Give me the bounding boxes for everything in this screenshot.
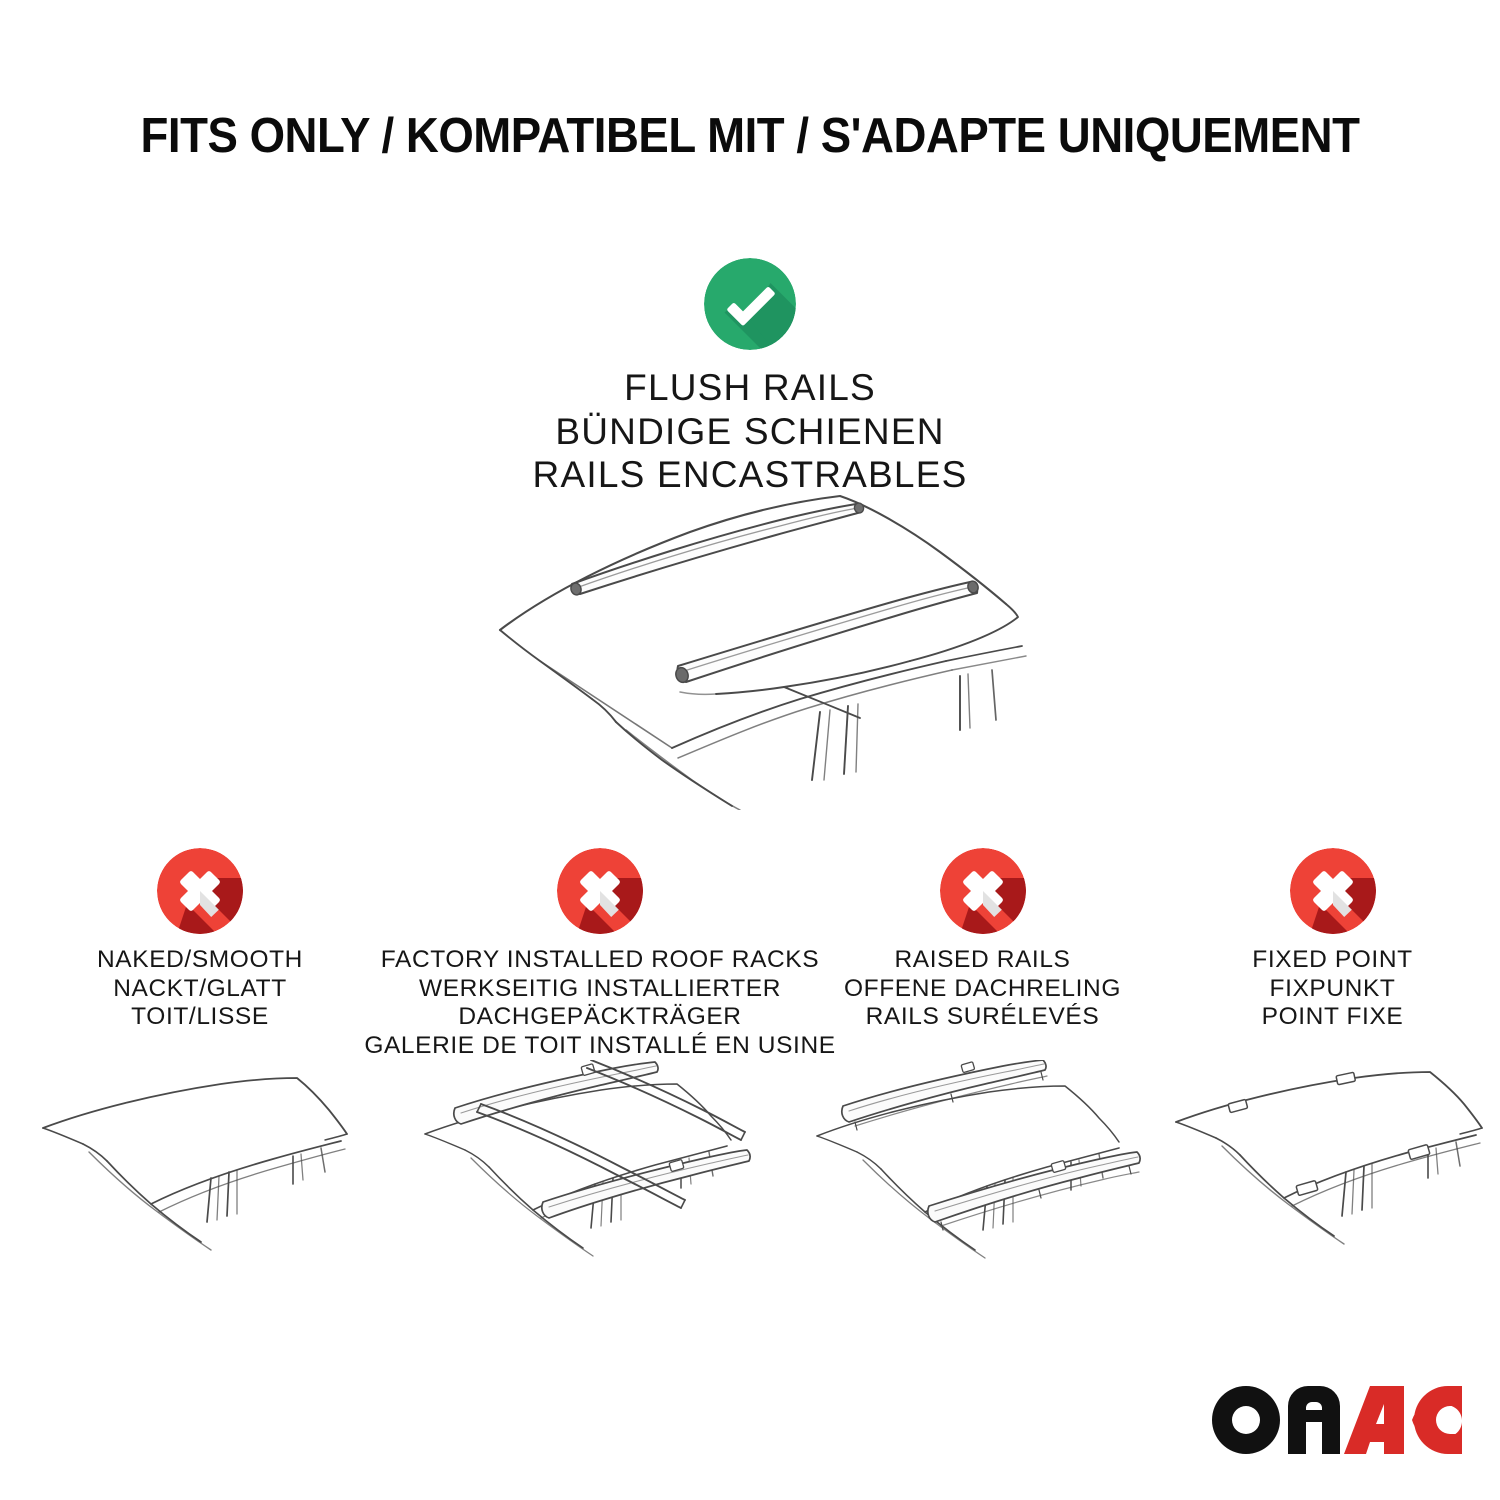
incompatible-line-de-2: DACHGEPÄCKTRÄGER	[364, 1003, 835, 1032]
car-roof-raised-rails-illustration	[803, 1060, 1163, 1280]
incompatible-caption: NAKED/SMOOTH NACKT/GLATT TOIT/LISSE	[97, 946, 303, 1032]
incompatible-caption: FACTORY INSTALLED ROOF RACKS WERKSEITIG …	[364, 946, 835, 1061]
incompatible-line-de: FIXPUNKT	[1252, 975, 1412, 1004]
x-circle-icon	[940, 848, 1026, 934]
omac-logo: OMAC	[1210, 1384, 1462, 1458]
incompatible-section: NAKED/SMOOTH NACKT/GLATT TOIT/LISSE	[0, 848, 1500, 1061]
incompatible-line-fr: POINT FIXE	[1252, 1003, 1412, 1032]
incompatible-line-en: NAKED/SMOOTH	[97, 946, 303, 975]
compatible-caption: FLUSH RAILS BÜNDIGE SCHIENEN RAILS ENCAS…	[0, 366, 1500, 497]
incompatible-line-de-1: WERKSEITIG INSTALLIERTER	[364, 975, 835, 1004]
incompatible-line-en: FACTORY INSTALLED ROOF RACKS	[364, 946, 835, 975]
incompatible-item-fixed-point: FIXED POINT FIXPUNKT POINT FIXE	[1165, 848, 1500, 1032]
incompatible-line-de: OFFENE DACHRELING	[844, 975, 1121, 1004]
incompatible-line-de: NACKT/GLATT	[97, 975, 303, 1004]
x-circle-icon	[157, 848, 243, 934]
incompatible-line-en: FIXED POINT	[1252, 946, 1412, 975]
incompatible-line-fr: GALERIE DE TOIT INSTALLÉ EN USINE	[364, 1032, 835, 1061]
compatible-line-de: BÜNDIGE SCHIENEN	[0, 410, 1500, 454]
incompatible-line-fr: TOIT/LISSE	[97, 1003, 303, 1032]
check-circle-icon	[704, 258, 796, 350]
incompatible-line-fr: RAILS SURÉLEVÉS	[844, 1003, 1121, 1032]
incompatible-caption: RAISED RAILS OFFENE DACHRELING RAILS SUR…	[844, 946, 1121, 1032]
car-roof-naked-illustration	[35, 1060, 365, 1280]
car-roof-fixed-point-illustration	[1168, 1060, 1498, 1280]
compatible-line-en: FLUSH RAILS	[0, 366, 1500, 410]
car-roof-factory-racks-illustration	[415, 1060, 785, 1280]
incompatible-item-factory-roof-racks: FACTORY INSTALLED ROOF RACKS WERKSEITIG …	[400, 848, 800, 1061]
incompatible-item-raised-rails: RAISED RAILS OFFENE DACHRELING RAILS SUR…	[800, 848, 1165, 1032]
fitment-infographic: FITS ONLY / KOMPATIBEL MIT / S'ADAPTE UN…	[0, 0, 1500, 1500]
x-circle-icon	[1290, 848, 1376, 934]
page-title: FITS ONLY / KOMPATIBEL MIT / S'ADAPTE UN…	[53, 108, 1448, 164]
incompatible-item-naked-smooth: NAKED/SMOOTH NACKT/GLATT TOIT/LISSE	[0, 848, 400, 1032]
compatible-section: FLUSH RAILS BÜNDIGE SCHIENEN RAILS ENCAS…	[0, 258, 1500, 497]
car-roof-flush-rails-illustration	[440, 480, 1060, 810]
x-circle-icon	[557, 848, 643, 934]
incompatible-line-en: RAISED RAILS	[844, 946, 1121, 975]
incompatible-caption: FIXED POINT FIXPUNKT POINT FIXE	[1252, 946, 1412, 1032]
